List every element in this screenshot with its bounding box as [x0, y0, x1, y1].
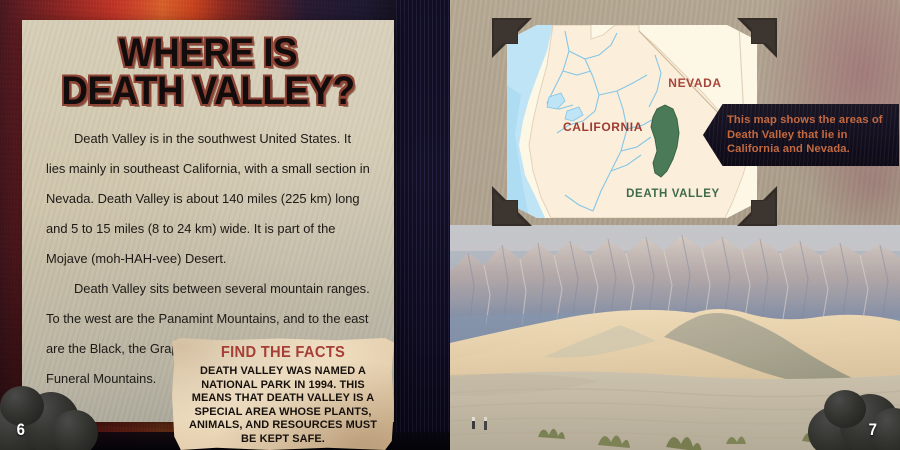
book-spread: WHERE IS DEATH VALLEY? Death Valley is i…: [0, 0, 900, 450]
fact-box-body: DEATH VALLEY WAS NAMED A NATIONAL PARK I…: [184, 365, 382, 447]
find-the-facts-card: FIND THE FACTS DEATH VALLEY WAS NAMED A …: [172, 338, 394, 450]
map-caption-text: This map shows the areas of Death Valley…: [727, 113, 889, 157]
map-label-death-valley: DEATH VALLEY: [626, 188, 720, 200]
map-corner-bracket-top-left: [492, 18, 532, 58]
body-paragraph-1: Death Valley is in the southwest United …: [46, 124, 370, 274]
right-page: CALIFORNIA NEVADA DEATH VALLEY: [450, 0, 900, 450]
map-label-nevada: NEVADA: [668, 76, 721, 90]
title-line-1: WHERE IS: [59, 34, 357, 72]
page-title: WHERE IS DEATH VALLEY?: [59, 34, 357, 110]
map-corner-bracket-top-right: [737, 18, 777, 58]
map-corner-bracket-bottom-left: [492, 186, 532, 226]
page-number-left: 6: [17, 420, 25, 440]
book-gutter: [396, 0, 450, 450]
page-number-rock-right: [808, 386, 900, 450]
page-number-rock-left: [0, 384, 98, 450]
page-number-right: 7: [869, 420, 877, 440]
map-label-california: CALIFORNIA: [563, 120, 643, 134]
title-line-2: DEATH VALLEY?: [59, 72, 357, 110]
fact-box-heading: FIND THE FACTS: [185, 344, 381, 362]
map-corner-bracket-bottom-right: [737, 186, 777, 226]
map-caption-banner: This map shows the areas of Death Valley…: [703, 104, 899, 166]
